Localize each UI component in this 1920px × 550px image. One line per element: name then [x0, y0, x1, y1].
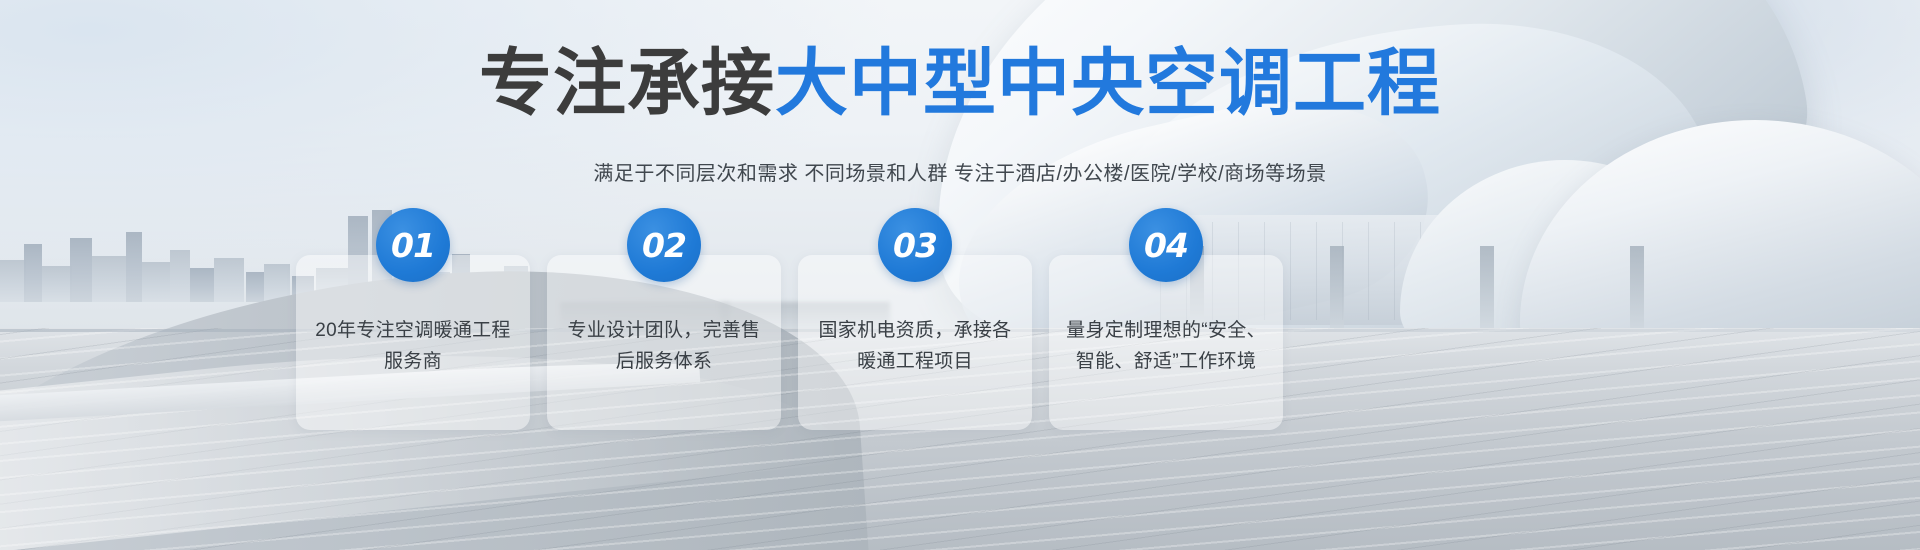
headline-blue-part: 大中型中央空调工程 — [775, 41, 1441, 126]
step-number-label: 02 — [642, 229, 686, 262]
step-number-label: 03 — [893, 229, 937, 262]
step-number-label: 01 — [391, 229, 435, 262]
step-number-label: 04 — [1144, 229, 1188, 262]
banner-content: 专注承接大中型中央空调工程 满足于不同层次和需求 不同场景和人群 专注于酒店/办… — [0, 0, 1920, 550]
step-number-badge: 01 — [376, 208, 450, 282]
feature-card-text: 20年专注空调暖通工程服务商 — [312, 315, 514, 377]
step-number-badge: 02 — [627, 208, 701, 282]
feature-card-text: 国家机电资质，承接各暖通工程项目 — [814, 315, 1016, 377]
step-number-badge: 04 — [1129, 208, 1203, 282]
feature-card-text: 专业设计团队，完善售后服务体系 — [563, 315, 765, 377]
headline-dark-part: 专注承接 — [479, 41, 775, 126]
page-subtitle: 满足于不同层次和需求 不同场景和人群 专注于酒店/办公楼/医院/学校/商场等场景 — [0, 160, 1920, 188]
feature-card[interactable]: 02 专业设计团队，完善售后服务体系 — [547, 255, 781, 430]
feature-card-list: 01 20年专注空调暖通工程服务商 02 专业设计团队，完善售后服务体系 03 … — [296, 255, 1296, 430]
step-number-badge: 03 — [878, 208, 952, 282]
page-title: 专注承接大中型中央空调工程 — [0, 42, 1920, 126]
feature-card[interactable]: 04 量身定制理想的“安全、智能、舒适”工作环境 — [1049, 255, 1283, 430]
feature-card-text: 量身定制理想的“安全、智能、舒适”工作环境 — [1065, 315, 1267, 377]
feature-card[interactable]: 01 20年专注空调暖通工程服务商 — [296, 255, 530, 430]
feature-card[interactable]: 03 国家机电资质，承接各暖通工程项目 — [798, 255, 1032, 430]
hero-banner: 专注承接大中型中央空调工程 满足于不同层次和需求 不同场景和人群 专注于酒店/办… — [0, 0, 1920, 550]
